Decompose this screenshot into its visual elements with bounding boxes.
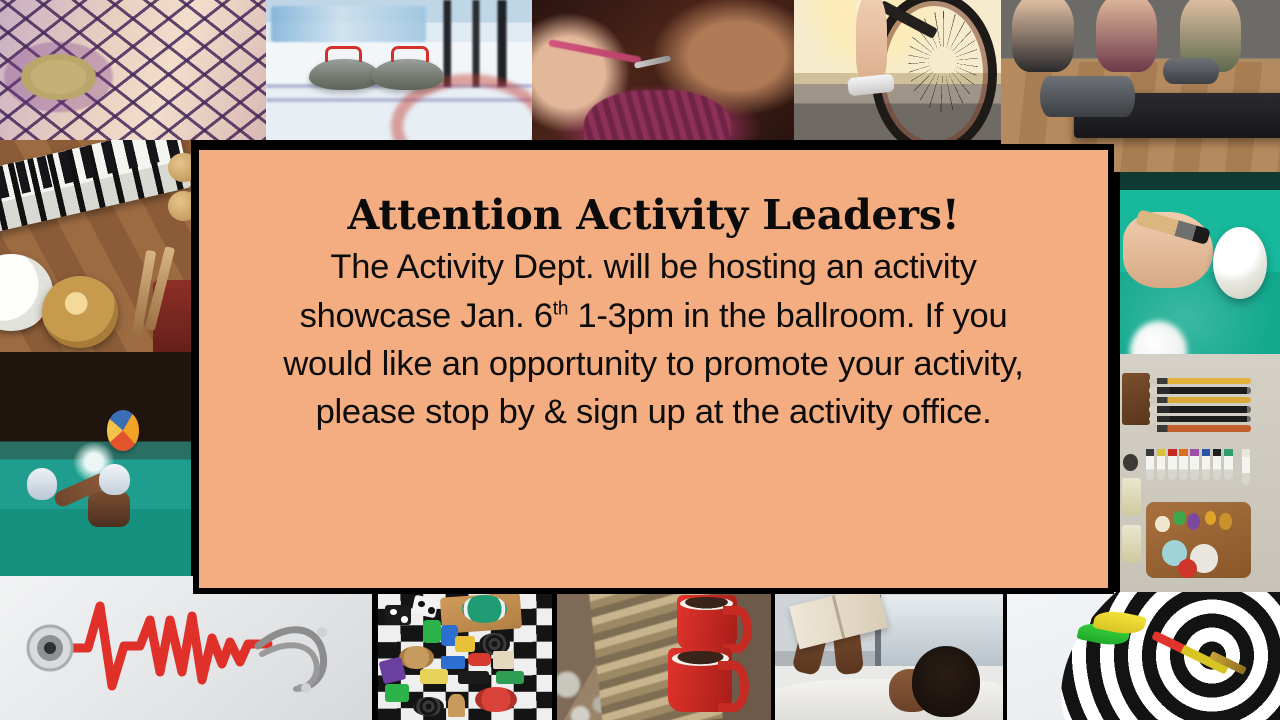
collage-tile-curling [266,0,532,140]
collage-tile-darts [1007,592,1280,720]
music-instruments-image [0,140,191,352]
collage-tile-knitting [532,0,794,140]
callout-content: Attention Activity Leaders! The Activity… [217,194,1090,437]
collage-tile-waterpolo [0,352,191,576]
water-polo-image [0,352,191,576]
collage-tile-music [0,140,191,352]
art-supplies-image [1120,354,1280,592]
stethoscope-ekg-image [0,576,372,720]
collage-tile-billiards [1120,172,1280,354]
stethoscope-ekg-graphic [0,576,372,720]
collage-tile-stethoscope [0,576,372,720]
headline-text: Attention Activity Leaders! [217,194,1090,237]
person-reading-in-bed-image [775,592,1003,720]
body-line-1: The Activity Dept. will be hosting an ac… [330,248,976,286]
curling-stones-image [266,0,532,140]
collage-tile-tennis [0,0,266,140]
collage-tile-art-supplies [1120,354,1280,592]
date-ordinal-suffix: th [553,298,568,319]
body-line-2a: showcase Jan. 6 [300,297,553,335]
billiards-image [1120,172,1280,354]
collage-tile-coffee [557,592,771,720]
tennis-ball-in-net-image [0,0,266,140]
coffee-mugs-image [557,592,771,720]
body-text: The Activity Dept. will be hosting an ac… [217,243,1090,436]
knitting-hands-image [532,0,794,140]
dart-on-dartboard-image [1007,592,1280,720]
body-line-4: please stop by & sign up at the activity… [316,393,992,431]
announcement-callout: Attention Activity Leaders! The Activity… [193,144,1114,594]
announcement-slide: Attention Activity Leaders! The Activity… [0,0,1280,720]
board-games-image [378,592,552,720]
collage-tile-cycling [794,0,1001,140]
body-line-2b: 1-3pm in the ballroom. If you [568,297,1007,335]
collage-tile-reading [775,592,1003,720]
cyclist-sunset-image [794,0,1001,140]
body-line-3: would like an opportunity to promote you… [283,345,1023,383]
collage-tile-board-games [378,592,552,720]
